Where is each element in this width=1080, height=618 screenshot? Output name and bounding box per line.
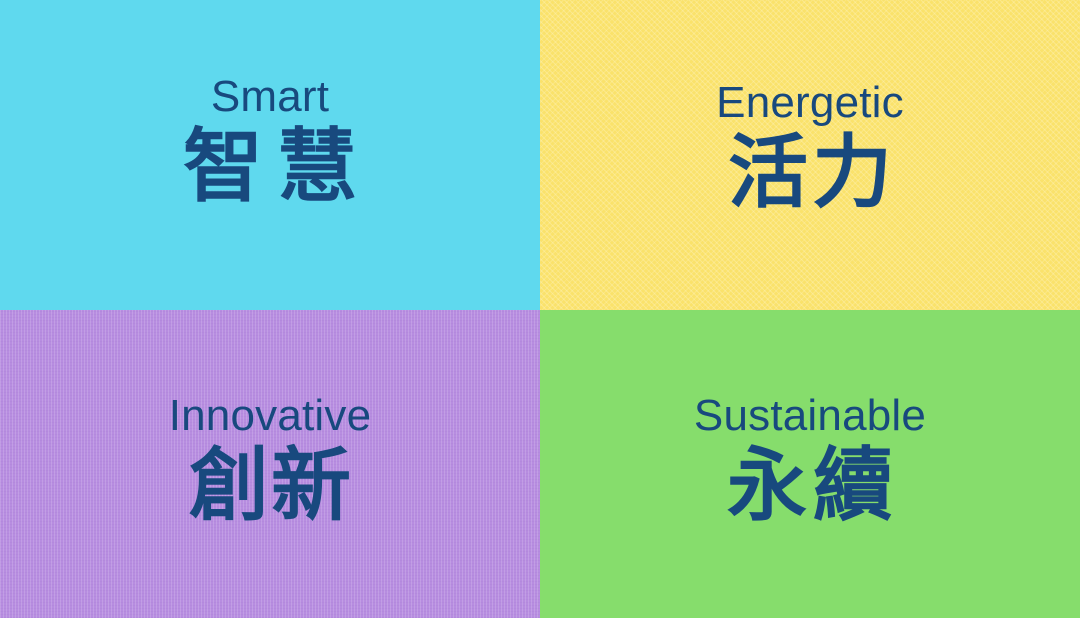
label-en-innovative: Innovative (169, 394, 372, 438)
quadrant-energetic[interactable]: Energetic 活力 (540, 0, 1080, 310)
label-stack-sustainable: Sustainable 永續 (694, 394, 926, 526)
quadrant-smart[interactable]: Smart 智慧 (0, 0, 540, 310)
label-stack-innovative: Innovative 創新 (169, 394, 372, 526)
brand-values-grid: Smart 智慧 Energetic 活力 Innovative 創新 Sust… (0, 0, 1080, 618)
label-zh-smart: 智慧 (169, 127, 371, 207)
label-zh-energetic: 活力 (724, 133, 896, 213)
label-en-sustainable: Sustainable (694, 394, 926, 438)
quadrant-innovative[interactable]: Innovative 創新 (0, 310, 540, 618)
label-zh-innovative: 創新 (187, 446, 353, 526)
label-en-energetic: Energetic (716, 81, 904, 125)
label-zh-sustainable: 永續 (721, 446, 899, 526)
label-stack-energetic: Energetic 活力 (716, 81, 904, 213)
quadrant-sustainable[interactable]: Sustainable 永續 (540, 310, 1080, 618)
label-en-smart: Smart (211, 75, 329, 119)
label-stack-smart: Smart 智慧 (169, 75, 371, 207)
